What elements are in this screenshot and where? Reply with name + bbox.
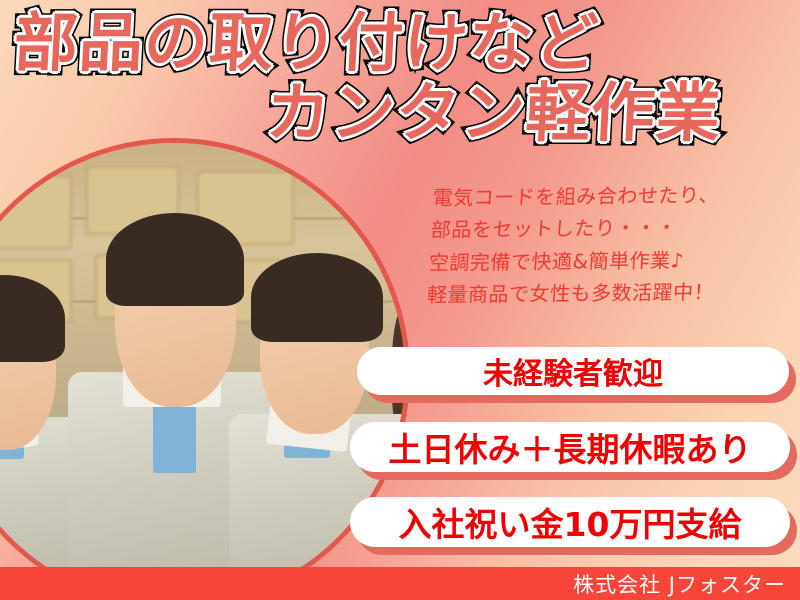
job-ad-banner: 部品の取り付けなど カンタン軽作業 電気コードを組み合わせたり、 部品をセットし… [0,0,800,600]
description-line-1: 電気コードを組み合わせたり、 [432,178,794,214]
description-line-4: 軽量商品で女性も多数活躍中！ [426,275,788,311]
badge-holidays: 土日休み＋長期休暇あり [350,422,790,472]
footer-bar: 株式会社 Jフォスター [0,567,800,600]
hair [251,253,383,342]
company-name: 株式会社 Jフォスター [573,569,800,599]
background-box [0,175,72,249]
hair [106,213,244,306]
worker-photo-circle [0,138,410,600]
description-line-3: 空調完備で快適&簡単作業♪ [428,243,790,279]
headline-line-1: 部品の取り付けなど [12,12,600,77]
badge-no-experience: 未経験者歓迎 [357,347,789,395]
description-text: 電気コードを組み合わせたり、 部品をセットしたり・・・ 空調完備で快適&簡単作業… [426,178,794,311]
description-line-2: 部品をセットしたり・・・ [430,211,792,247]
headline-line-2: カンタン軽作業 [264,82,722,147]
hair [0,275,65,362]
photo-background [0,143,405,600]
badge-signing-bonus: 入社祝い金10万円支給 [350,497,790,547]
